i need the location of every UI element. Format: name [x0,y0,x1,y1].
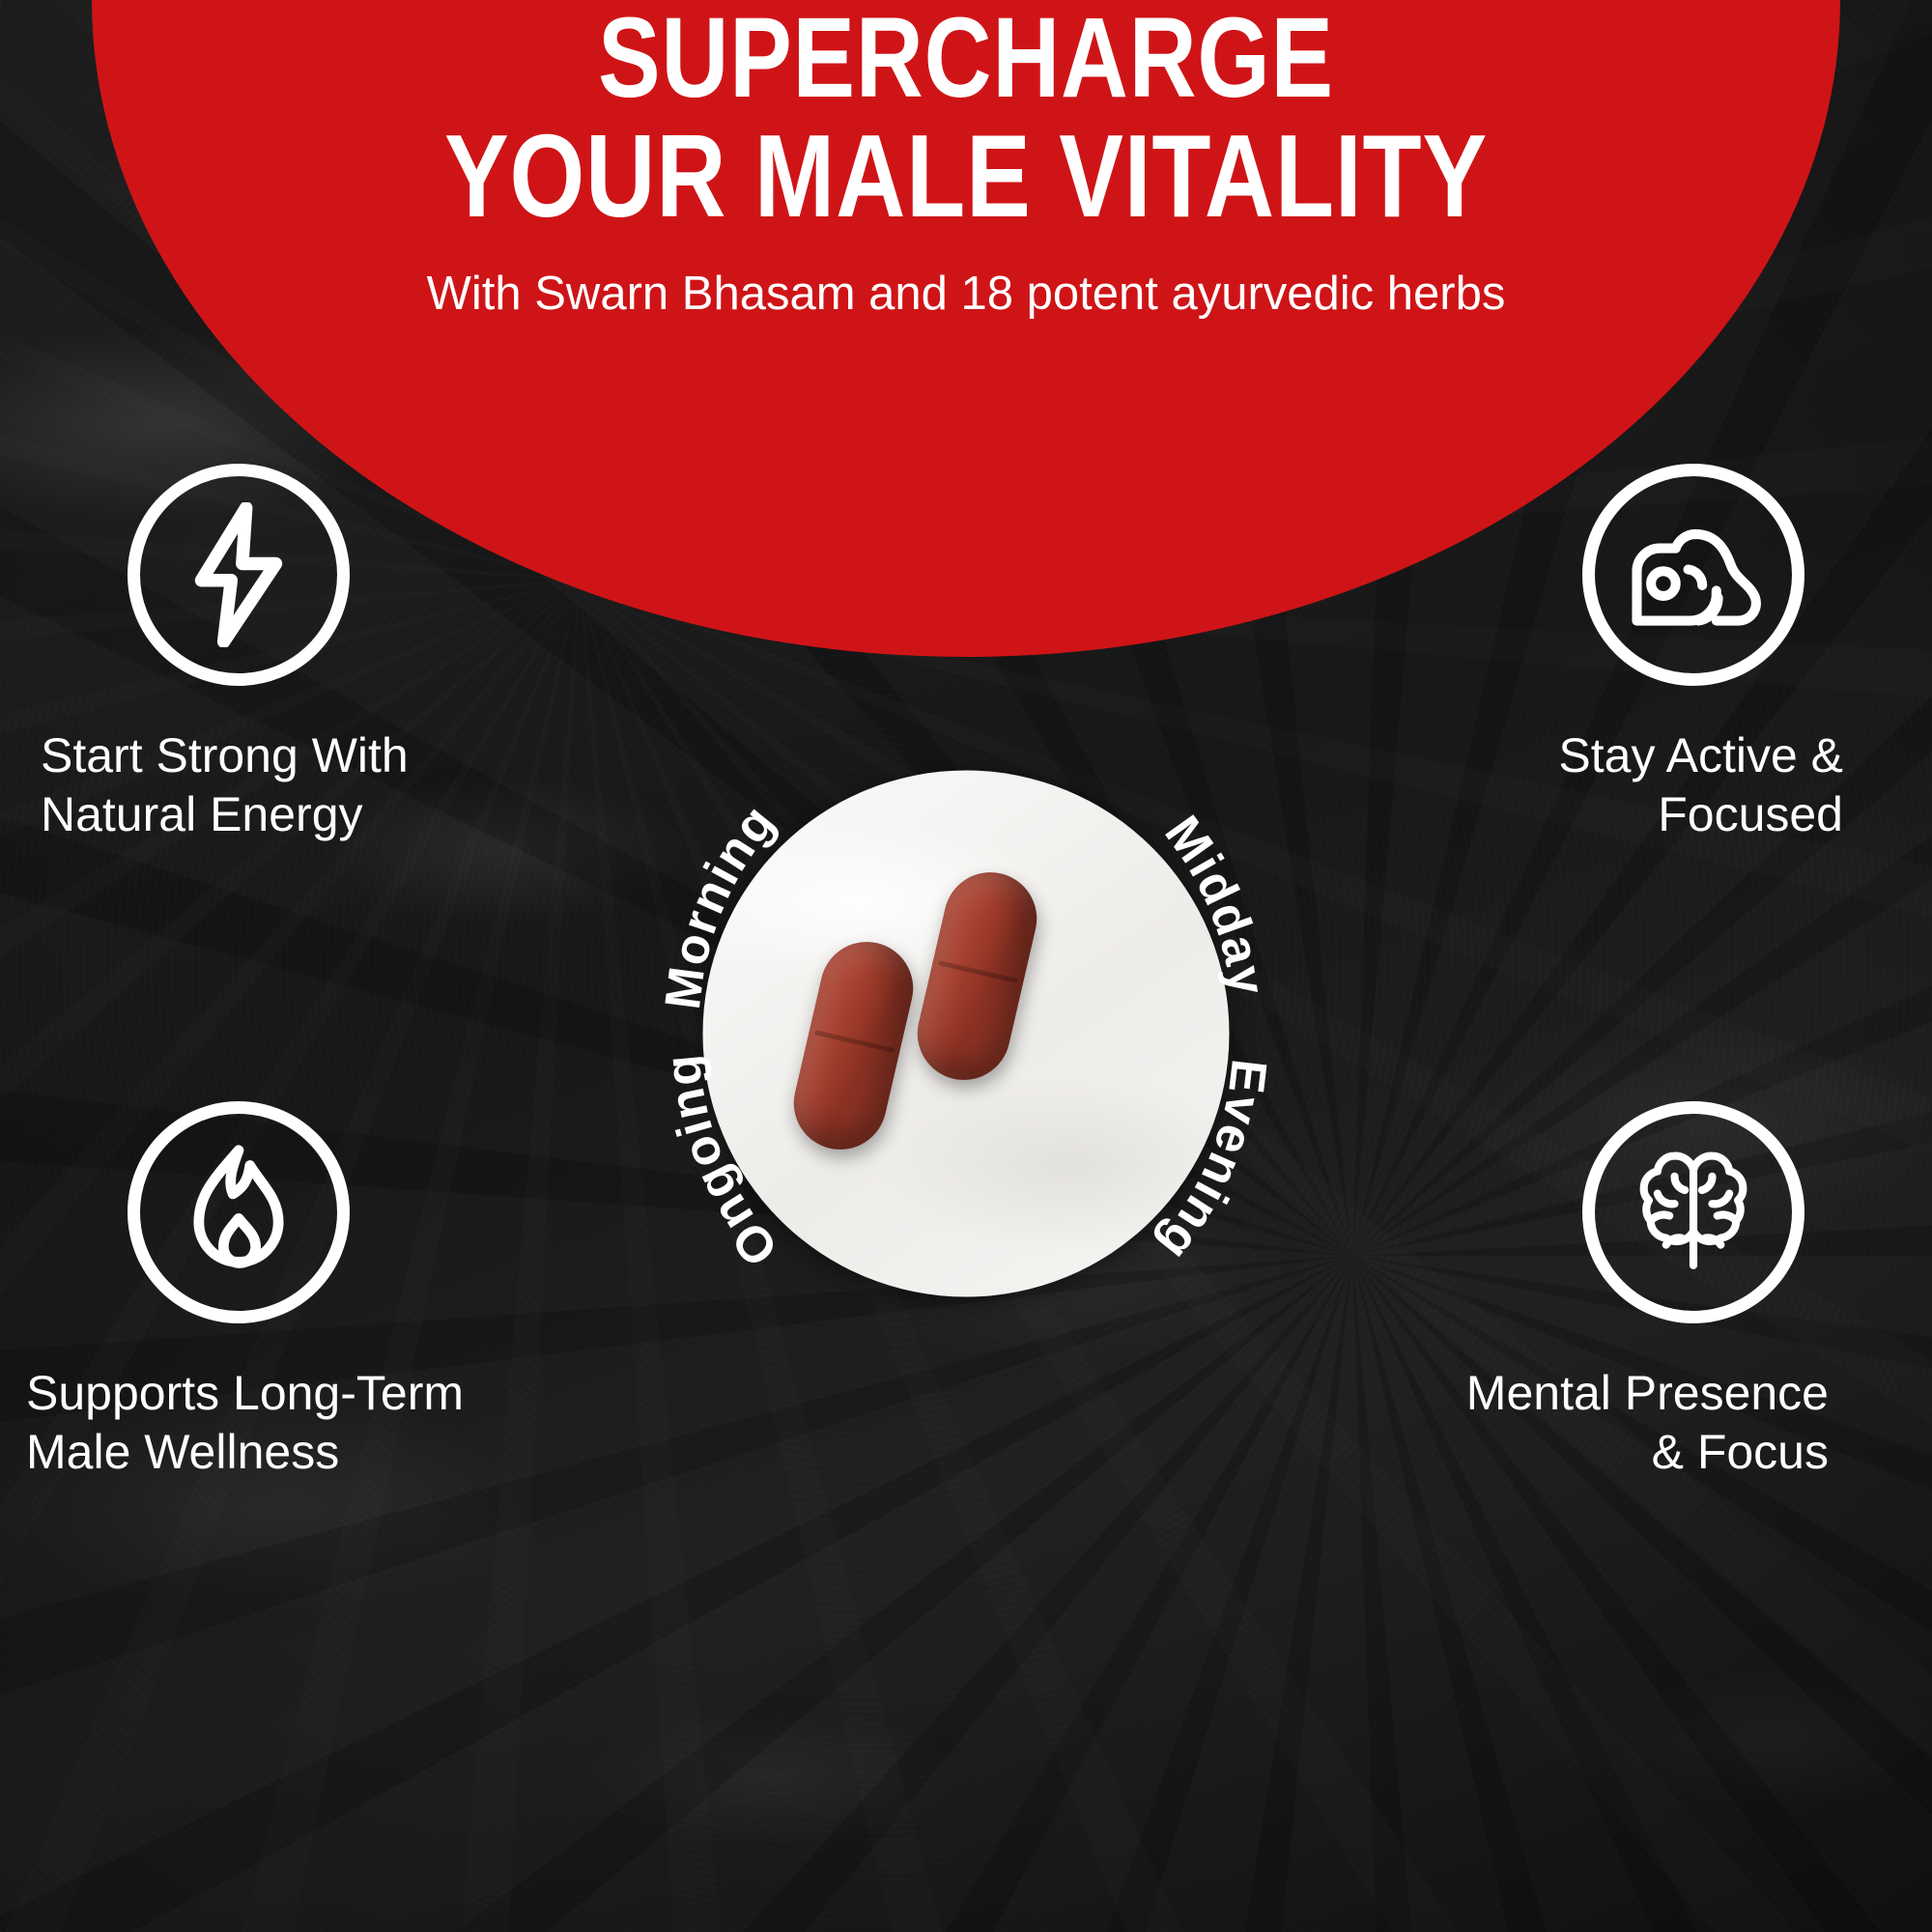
headline-line-1: SUPERCHARGE [598,0,1334,122]
page-title: SUPERCHARGE YOUR MALE VITALITY [368,0,1564,237]
lightning-bolt-icon [176,502,301,647]
brain-icon [1621,1146,1766,1279]
capsule [784,932,923,1158]
subheadline: With Swarn Bhasam and 18 potent ayurvedi… [237,266,1695,323]
flame-icon [181,1143,297,1283]
icon-ring-lightning [128,464,350,686]
icon-ring-bicep [1582,464,1804,686]
capsule [908,863,1046,1089]
feature-start-strong: Start Strong With Natural Energy [128,464,668,844]
flexed-bicep-icon [1621,511,1766,639]
feature-stay-active: Stay Active & Focused [1264,464,1804,844]
feature-mental-presence: Mental Presence & Focus [1264,1101,1804,1482]
feature-caption: Supports Long-Term Male Wellness [26,1364,668,1482]
product-infographic-poster: SUPERCHARGE YOUR MALE VITALITY With Swar… [0,0,1932,1932]
feature-long-term-wellness: Supports Long-Term Male Wellness [128,1101,668,1482]
feature-caption: Start Strong With Natural Energy [41,726,668,844]
feature-caption: Mental Presence & Focus [1264,1364,1829,1482]
icon-ring-brain [1582,1101,1804,1323]
feature-caption: Stay Active & Focused [1264,726,1843,844]
dosage-clock: Morning Midday Evening Ongoing [599,667,1333,1401]
icon-ring-flame [128,1101,350,1323]
capsule-photo-circle [703,771,1230,1297]
headline-line-2: YOUR MALE VITALITY [368,116,1564,236]
